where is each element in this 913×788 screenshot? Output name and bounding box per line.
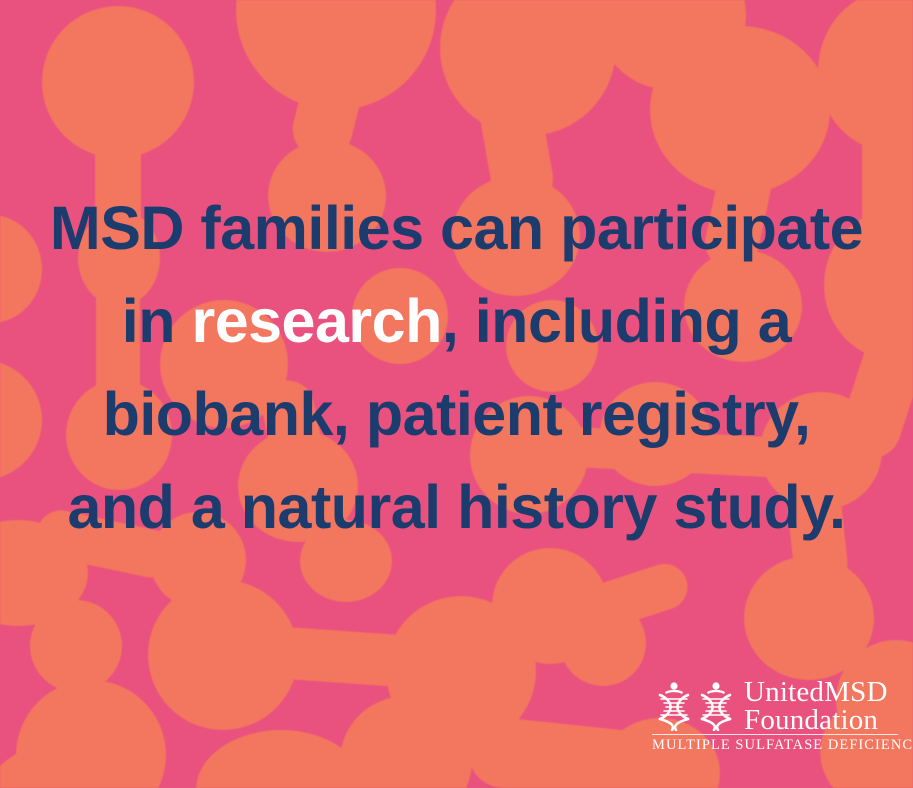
logo-wordmark-line-1: UnitedMSD — [744, 678, 888, 706]
headline-highlight-research: research — [191, 287, 441, 355]
logo-wordmark: UnitedMSD Foundation — [744, 678, 888, 735]
logo-wordmark-line-2: Foundation — [744, 706, 888, 734]
headline-line-3: biobank, patient registry, — [4, 368, 909, 461]
headline-line-2-pre: in — [122, 287, 192, 355]
headline-line-4: and a natural history study. — [4, 461, 909, 554]
poster-graphic: MSD families can participate in research… — [0, 0, 913, 788]
unitedmsd-foundation-logo: UnitedMSD Foundation MULTIPLE SULFATASE … — [652, 681, 898, 753]
logo-wordmark-msd: MSD — [824, 676, 887, 708]
bg-blob — [30, 600, 122, 692]
logo-wordmark-united: United — [744, 676, 824, 708]
headline-line-2: in research, including a — [4, 275, 909, 368]
logo-row: UnitedMSD Foundation — [652, 681, 898, 731]
dna-double-helix-people-icon — [652, 681, 738, 731]
headline-text: MSD families can participate in research… — [0, 182, 913, 554]
logo-tagline: MULTIPLE SULFATASE DEFICIENCY — [652, 737, 898, 754]
headline-line-1: MSD families can participate — [4, 182, 909, 275]
headline-line-2-post: , including a — [442, 287, 791, 355]
